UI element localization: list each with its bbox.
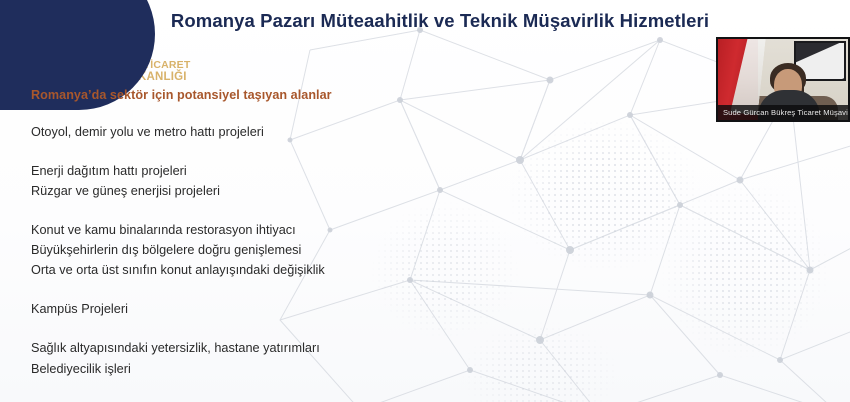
bullet-group: Kampüs Projeleri — [31, 299, 501, 319]
bullet-group: Enerji dağıtım hattı projeleri Rüzgar ve… — [31, 161, 501, 201]
bullet-group: Konut ve kamu binalarında restorasyon ih… — [31, 220, 501, 280]
bullet-line: Savunma sanayii alanında inşaat işleri — [31, 398, 501, 402]
bullet-group: Savunma sanayii alanında inşaat işleri — [31, 398, 501, 402]
slide-title: Romanya Pazarı Müteaahitlik ve Teknik Mü… — [170, 8, 710, 34]
presentation-slide: T.C. TİCARET BAKANLIĞI Romanya Pazarı Mü… — [0, 0, 850, 402]
bullet-line: Kampüs Projeleri — [31, 299, 501, 319]
bullet-line: Büyükşehirlerin dış bölgelere doğru geni… — [31, 240, 501, 260]
bullet-line: Sağlık altyapısındaki yetersizlik, hasta… — [31, 338, 501, 358]
bullet-line: Orta ve orta üst sınıfın konut anlayışın… — [31, 260, 501, 280]
halftone-texture — [660, 180, 830, 360]
bullet-line: Enerji dağıtım hattı projeleri — [31, 161, 501, 181]
webcam-video-tile[interactable]: Sude Gürcan Bükreş Ticaret Müşaviri — [716, 37, 850, 122]
speaker-nameplate: Sude Gürcan Bükreş Ticaret Müşaviri — [718, 105, 848, 120]
section-heading: Romanya’da sektör için potansiyel taşıya… — [31, 88, 501, 102]
bullet-line: Konut ve kamu binalarında restorasyon ih… — [31, 220, 501, 240]
slide-body: Romanya’da sektör için potansiyel taşıya… — [31, 88, 501, 402]
bullet-line: Otoyol, demir yolu ve metro hattı projel… — [31, 122, 501, 142]
bullet-line: Rüzgar ve güneş enerjisi projeleri — [31, 181, 501, 201]
bullet-group: Sağlık altyapısındaki yetersizlik, hasta… — [31, 338, 501, 378]
bullet-line: Belediyecilik işleri — [31, 359, 501, 379]
bullet-group: Otoyol, demir yolu ve metro hattı projel… — [31, 122, 501, 142]
halftone-texture — [510, 120, 700, 270]
